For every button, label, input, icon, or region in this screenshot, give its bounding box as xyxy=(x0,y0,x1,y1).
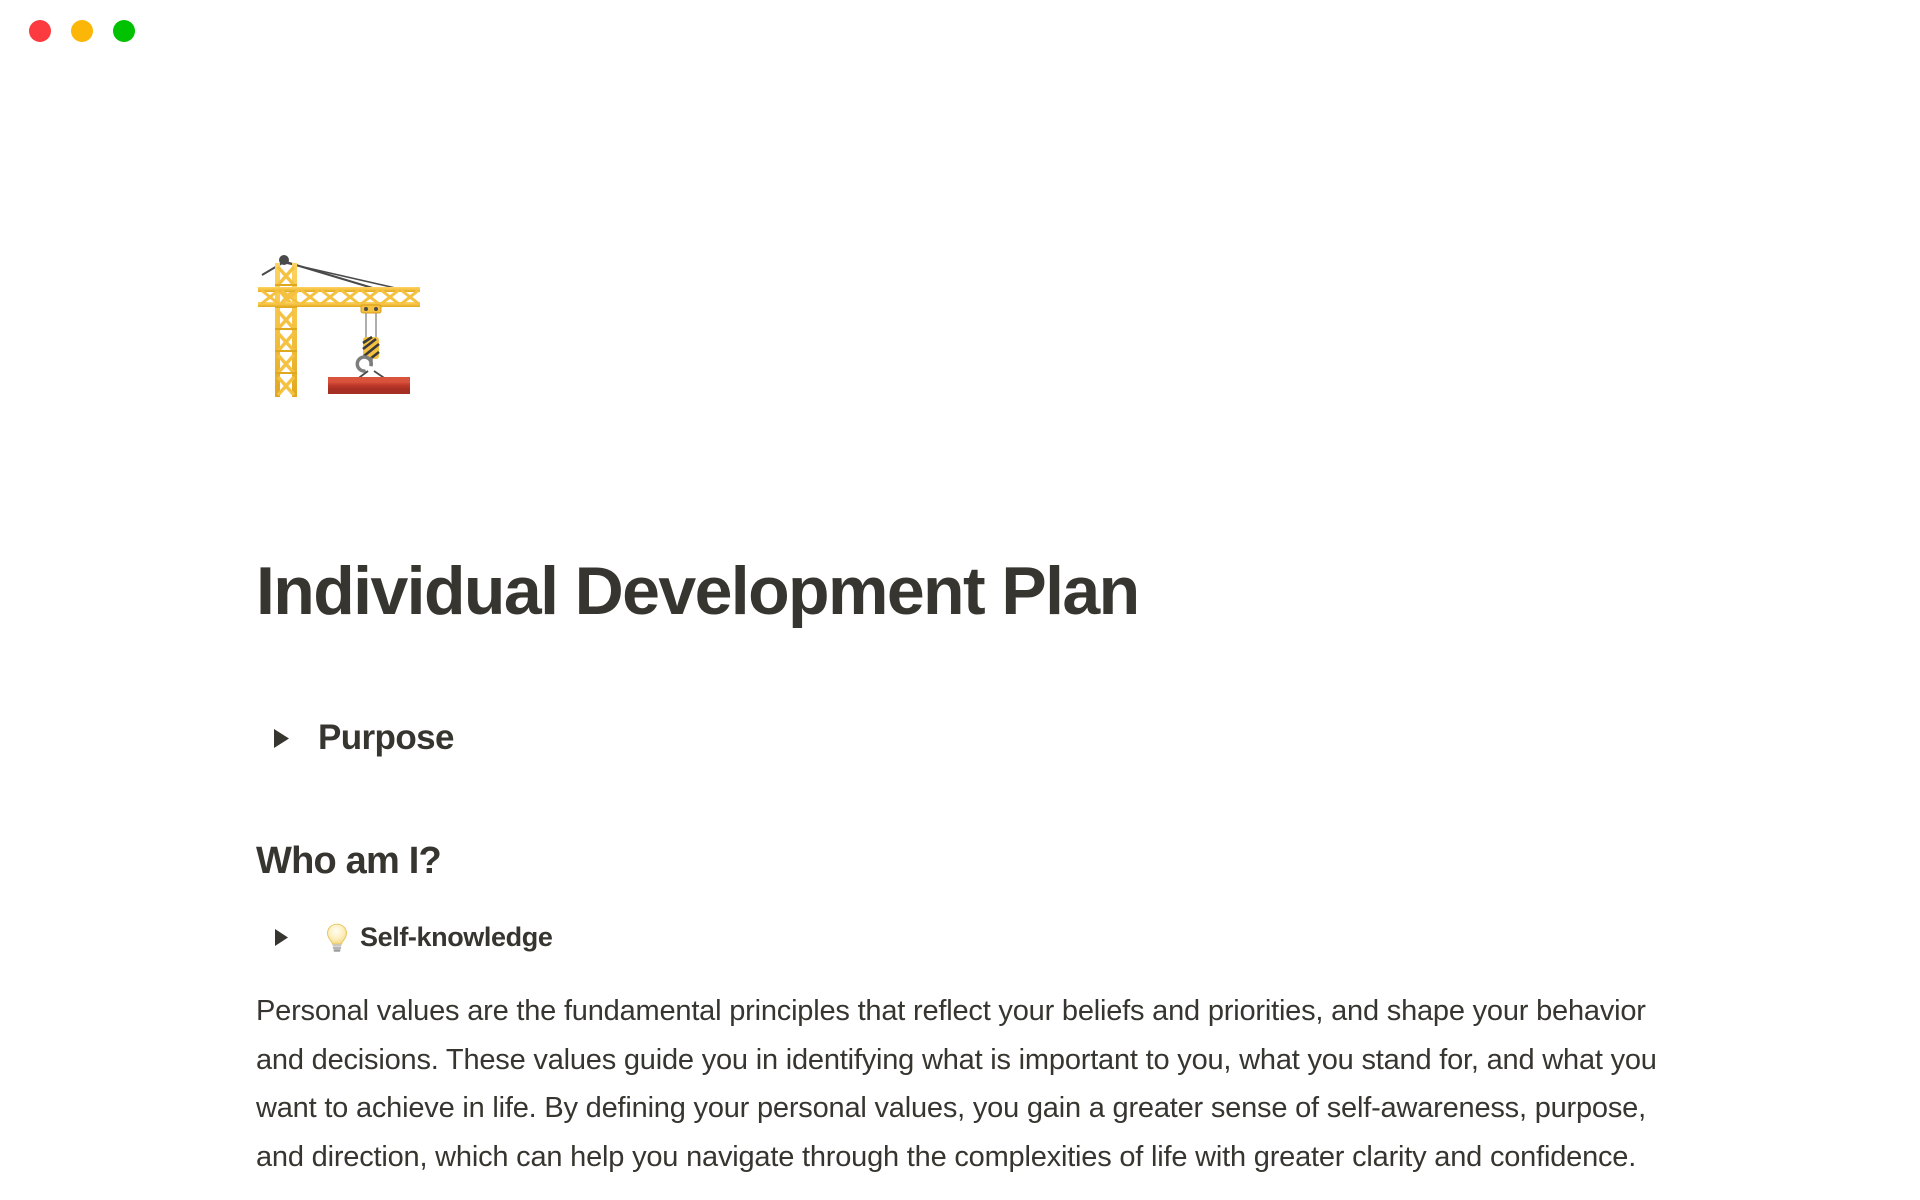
close-window-button[interactable] xyxy=(29,20,51,42)
toggle-label-purpose[interactable]: Purpose xyxy=(318,718,454,758)
toggle-block-self-knowledge[interactable]: Self-knowledge xyxy=(268,922,552,953)
heading-who-am-i[interactable]: Who am I? xyxy=(256,840,441,883)
toggle-label-self-knowledge[interactable]: Self-knowledge xyxy=(360,922,552,953)
minimize-window-button[interactable] xyxy=(71,20,93,42)
toggle-block-purpose[interactable]: Purpose xyxy=(266,718,454,758)
paragraph-personal-values[interactable]: Personal values are the fundamental prin… xyxy=(256,987,1696,1181)
light-bulb-icon xyxy=(320,923,354,953)
traffic-light-controls xyxy=(29,20,135,42)
construction-crane-icon[interactable] xyxy=(256,249,426,399)
page-title[interactable]: Individual Development Plan xyxy=(256,554,1139,629)
window-title-bar xyxy=(0,0,1920,62)
chevron-right-icon[interactable] xyxy=(268,925,294,951)
chevron-right-icon[interactable] xyxy=(266,725,296,751)
maximize-window-button[interactable] xyxy=(113,20,135,42)
document-page: Individual Development Plan Purpose Who … xyxy=(0,62,1920,1200)
